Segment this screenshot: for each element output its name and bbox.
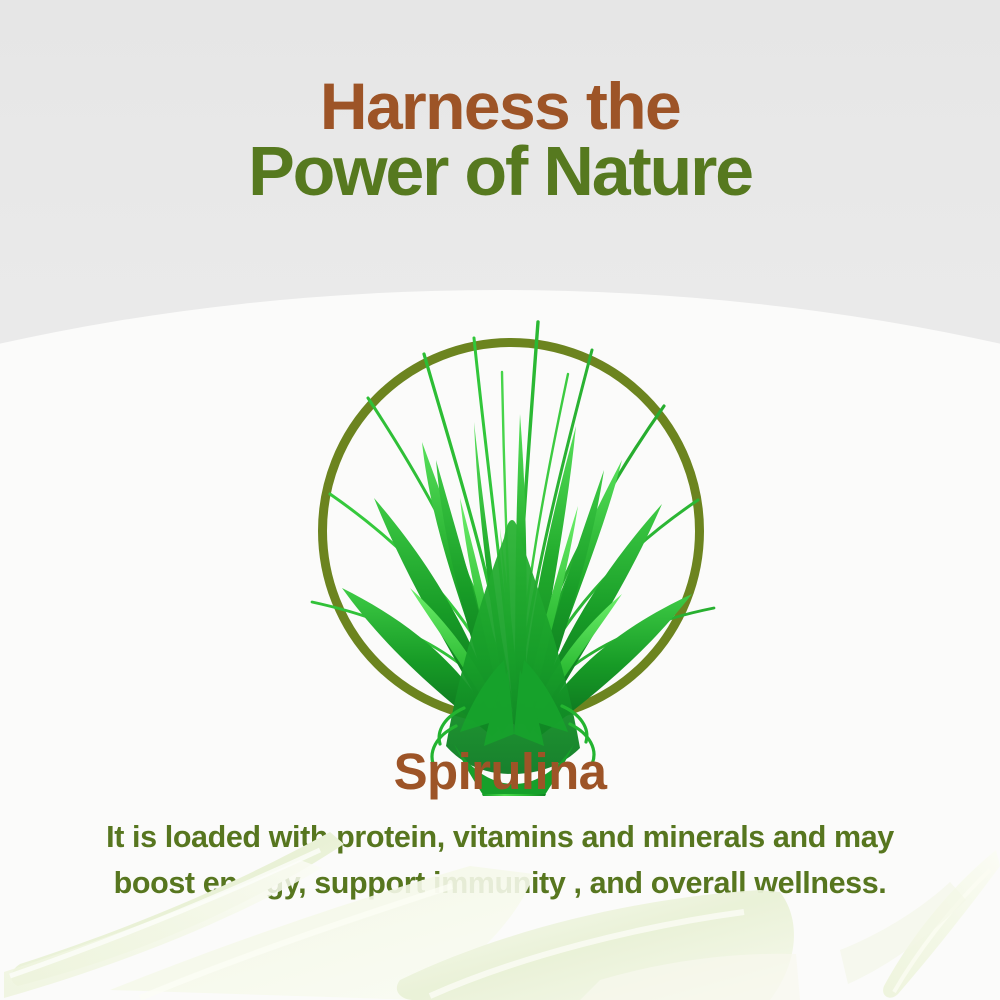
headline-line-1: Harness the (0, 74, 1000, 138)
spirulina-grass-illustration-icon (246, 246, 776, 796)
headline-line-2: Power of Nature (0, 138, 1000, 206)
ingredient-emblem (318, 338, 704, 724)
description-line-1: It is loaded with protein, vitamins and … (40, 814, 960, 860)
headline: Harness the Power of Nature (0, 74, 1000, 206)
spirulina-promo-card: Harness the Power of Nature (0, 0, 1000, 1000)
ingredient-title: Spirulina (0, 742, 1000, 801)
ingredient-description: It is loaded with protein, vitamins and … (40, 814, 960, 907)
description-line-2: boost energy, support immunity , and ove… (40, 860, 960, 906)
